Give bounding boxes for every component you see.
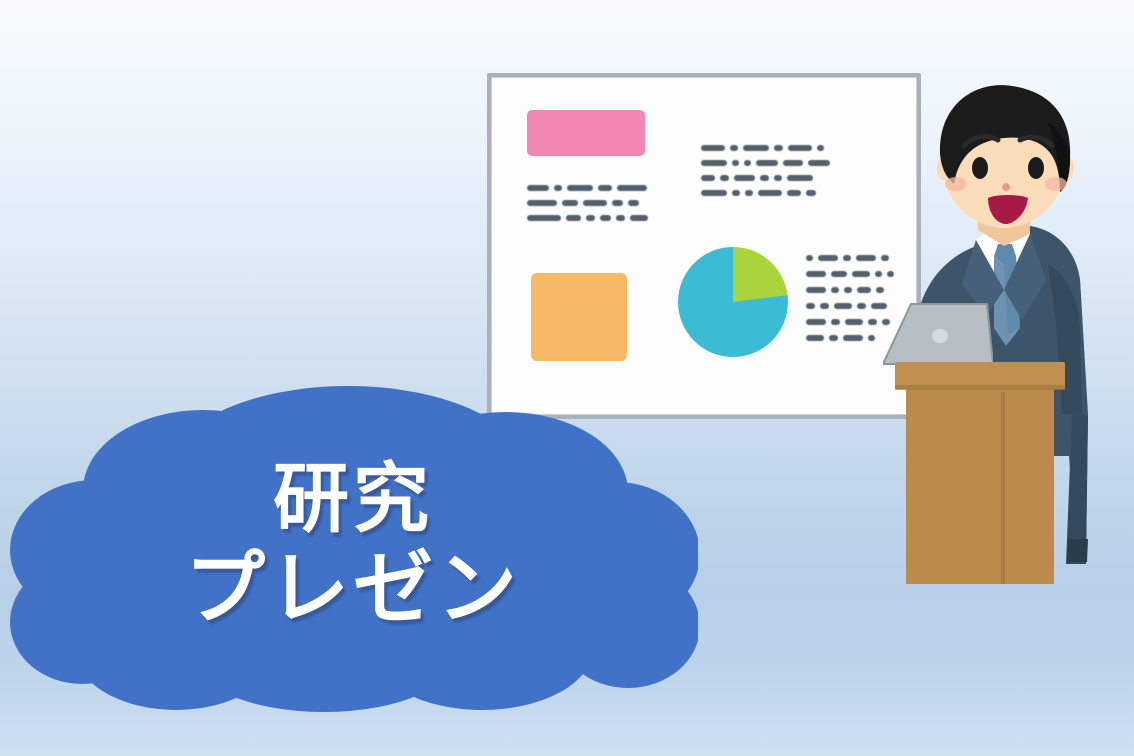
podium-seam xyxy=(1001,392,1005,584)
text-line xyxy=(527,215,653,221)
text-line xyxy=(701,145,835,151)
orange-image-block xyxy=(531,273,627,361)
title-cloud: 研究 プレゼン xyxy=(8,372,698,712)
text-line xyxy=(527,200,653,206)
podium-top-shadow xyxy=(895,385,1065,390)
illustration-canvas: 研究 プレゼン xyxy=(0,0,1134,756)
text-line xyxy=(701,160,835,166)
right-top-text-block xyxy=(701,145,835,205)
pink-header-block xyxy=(527,110,645,156)
text-line xyxy=(701,190,835,196)
podium-body xyxy=(906,389,1054,584)
whiteboard-slide xyxy=(487,73,921,419)
presenter-head xyxy=(937,85,1074,228)
cloud-shape xyxy=(10,386,698,712)
wooden-podium xyxy=(895,362,1065,584)
slide-pie-chart xyxy=(678,247,788,357)
text-line xyxy=(701,175,835,181)
text-line xyxy=(527,185,653,191)
left-text-block xyxy=(527,185,653,230)
open-laptop xyxy=(883,302,993,370)
